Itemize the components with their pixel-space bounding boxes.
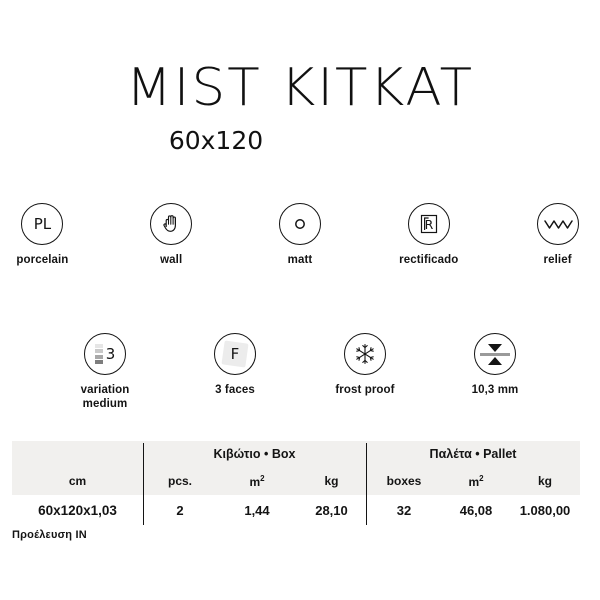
frost-proof-icon <box>344 333 386 375</box>
matt-finish-icon <box>279 203 321 245</box>
column-header-cm: cm <box>12 474 143 488</box>
column-header-box-m2: m2 <box>217 474 297 489</box>
feature-thickness-label: 10,3 mm <box>472 383 519 397</box>
specifications-table: Κιβώτιο • Box Παλέτα • Pallet cm pcs. m2… <box>12 441 580 525</box>
column-header-pallet-m2-unit: m <box>468 475 479 489</box>
feature-frost-proof-label: frost proof <box>335 383 394 397</box>
column-header-box-m2-unit: m <box>249 475 260 489</box>
table-header: Κιβώτιο • Box Παλέτα • Pallet cm pcs. m2… <box>12 441 580 495</box>
feature-matt: matt <box>258 203 343 267</box>
cell-box-pcs: 2 <box>143 503 217 518</box>
feature-thickness: 10,3 mm <box>451 333 539 397</box>
faces-icon-glyph: F <box>231 347 240 362</box>
rectified-icon: R <box>408 203 450 245</box>
product-size: 60x120 <box>0 114 600 153</box>
feature-wall-label: wall <box>160 253 182 267</box>
cell-box-m2: 1,44 <box>217 503 297 518</box>
relief-wave-icon <box>537 203 579 245</box>
table-divider-box <box>143 443 144 525</box>
feature-variation-label: variation medium <box>81 383 130 412</box>
origin-note: Προέλευση IN <box>12 529 87 541</box>
group-header-pallet: Παλέτα • Pallet <box>366 447 580 461</box>
column-header-box-m2-sup: 2 <box>260 474 264 483</box>
feature-icons-row-1: PL porcelain wall matt R rectific <box>0 203 600 267</box>
variation-icon-glyph: 3 <box>106 347 116 362</box>
thickness-bar <box>480 353 510 356</box>
feature-rectificado-label: rectificado <box>399 253 458 267</box>
feature-rectificado: R rectificado <box>386 203 471 267</box>
column-header-pallet-m2: m2 <box>442 474 510 489</box>
cell-box-kg: 28,10 <box>297 503 366 518</box>
feature-faces-label: 3 faces <box>215 383 255 397</box>
table-group-header-row: Κιβώτιο • Box Παλέτα • Pallet <box>12 441 580 467</box>
feature-variation: 3 variation medium <box>61 333 149 412</box>
cell-pallet-kg: 1.080,00 <box>510 503 580 518</box>
page-title: MIST KITKAT <box>0 62 600 114</box>
cell-pallet-boxes: 32 <box>366 503 442 518</box>
feature-icons-row-2: 3 variation medium F 3 faces <box>0 333 600 412</box>
feature-matt-label: matt <box>288 253 313 267</box>
column-header-box-kg: kg <box>297 474 366 488</box>
thickness-icon <box>474 333 516 375</box>
cell-pallet-m2: 46,08 <box>442 503 510 518</box>
feature-porcelain: PL porcelain <box>0 203 85 267</box>
feature-relief-label: relief <box>544 253 572 267</box>
column-header-pallet-boxes: boxes <box>366 474 442 488</box>
variation-icon: 3 <box>84 333 126 375</box>
feature-wall: wall <box>129 203 214 267</box>
hand-wall-icon <box>150 203 192 245</box>
variation-bars <box>95 344 103 365</box>
group-header-box: Κιβώτιο • Box <box>143 447 366 461</box>
column-header-box-pcs: pcs. <box>143 474 217 488</box>
column-header-pallet-m2-sup: 2 <box>479 474 483 483</box>
thickness-arrow-up <box>488 357 502 365</box>
cell-cm: 60x120x1,03 <box>12 503 143 518</box>
feature-frost-proof: frost proof <box>321 333 409 397</box>
column-header-pallet-kg: kg <box>510 474 580 488</box>
porcelain-icon-glyph: PL <box>34 217 51 232</box>
feature-porcelain-label: porcelain <box>16 253 68 267</box>
table-row: 60x120x1,03 2 1,44 28,10 32 46,08 1.080,… <box>12 495 580 525</box>
faces-icon: F <box>214 333 256 375</box>
feature-relief: relief <box>515 203 600 267</box>
table-divider-pallet <box>366 443 367 525</box>
svg-text:R: R <box>424 217 433 232</box>
feature-faces: F 3 faces <box>191 333 279 397</box>
table-column-header-row: cm pcs. m2 kg boxes m2 kg <box>12 467 580 495</box>
porcelain-icon: PL <box>21 203 63 245</box>
thickness-arrow-down <box>488 344 502 352</box>
title-block: MIST KITKAT 60x120 <box>0 62 600 153</box>
